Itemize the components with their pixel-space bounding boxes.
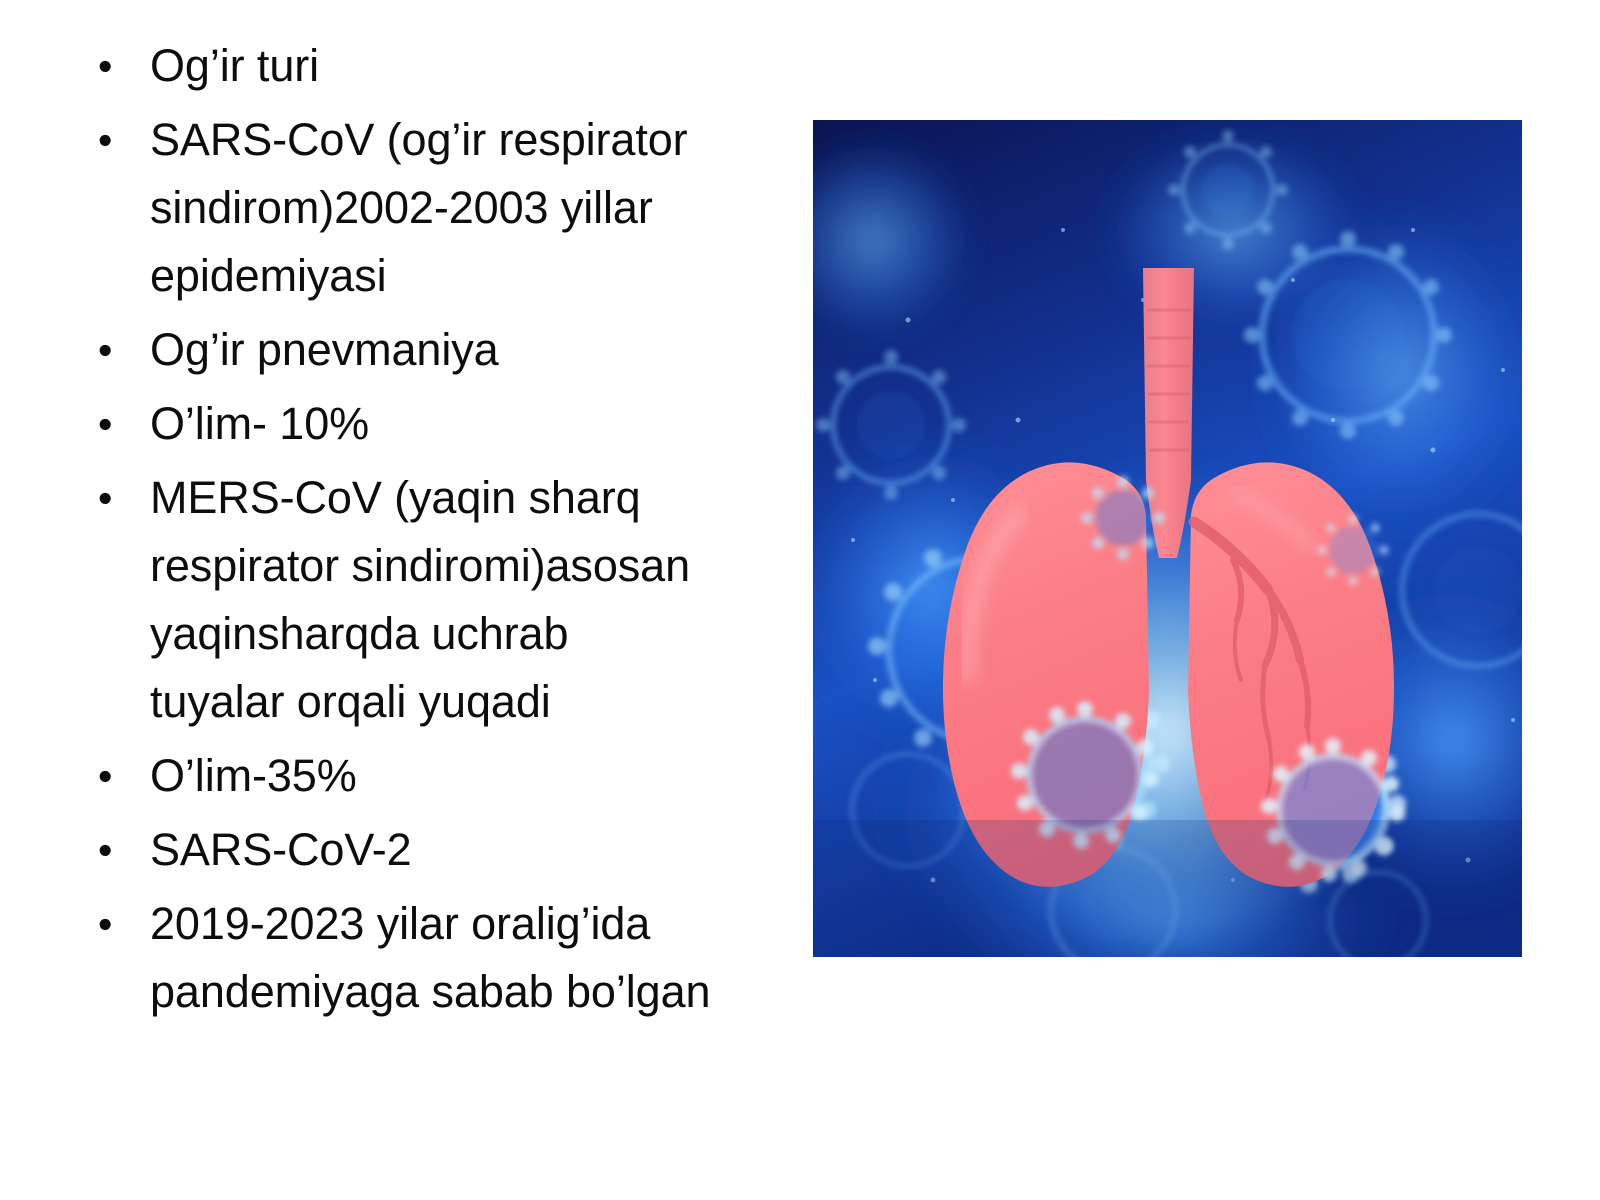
bullet-point-icon: • xyxy=(88,742,150,810)
list-item: • SARS-CoV-2 xyxy=(88,816,788,884)
list-item-label: 2019-2023 yilar oralig’ida pandemiyaga s… xyxy=(150,890,788,1026)
list-item-label: MERS-CoV (yaqin sharq respirator sindiro… xyxy=(150,464,788,736)
list-item: • O’lim- 10% xyxy=(88,390,788,458)
list-item: • Og’ir turi xyxy=(88,32,788,100)
bullet-point-icon: • xyxy=(88,390,150,458)
list-item: • SARS-CoV (og’ir respirator sindirom)20… xyxy=(88,106,788,310)
list-item: • MERS-CoV (yaqin sharq respirator sindi… xyxy=(88,464,788,736)
bullet-point-icon: • xyxy=(88,816,150,884)
bullet-point-icon: • xyxy=(88,890,150,958)
bottom-vignette xyxy=(813,820,1522,957)
list-item-label: SARS-CoV-2 xyxy=(150,816,788,884)
list-item: • 2019-2023 yilar oralig’ida pandemiyaga… xyxy=(88,890,788,1026)
bullet-point-icon: • xyxy=(88,32,150,100)
lungs-illustration-svg xyxy=(813,120,1522,957)
lungs-coronavirus-image xyxy=(813,120,1522,957)
bullet-point-icon: • xyxy=(88,106,150,174)
slide-canvas: • Og’ir turi • SARS-CoV (og’ir respirato… xyxy=(0,0,1600,1200)
bullet-point-icon: • xyxy=(88,316,150,384)
list-item-label: SARS-CoV (og’ir respirator sindirom)2002… xyxy=(150,106,788,310)
list-item: • O’lim-35% xyxy=(88,742,788,810)
list-item-label: O’lim- 10% xyxy=(150,390,788,458)
list-item-label: O’lim-35% xyxy=(150,742,788,810)
list-item: • Og’ir pnevmaniya xyxy=(88,316,788,384)
bullet-list: • Og’ir turi • SARS-CoV (og’ir respirato… xyxy=(88,32,788,1032)
list-item-label: Og’ir turi xyxy=(150,32,788,100)
bullet-point-icon: • xyxy=(88,464,150,532)
list-item-label: Og’ir pnevmaniya xyxy=(150,316,788,384)
